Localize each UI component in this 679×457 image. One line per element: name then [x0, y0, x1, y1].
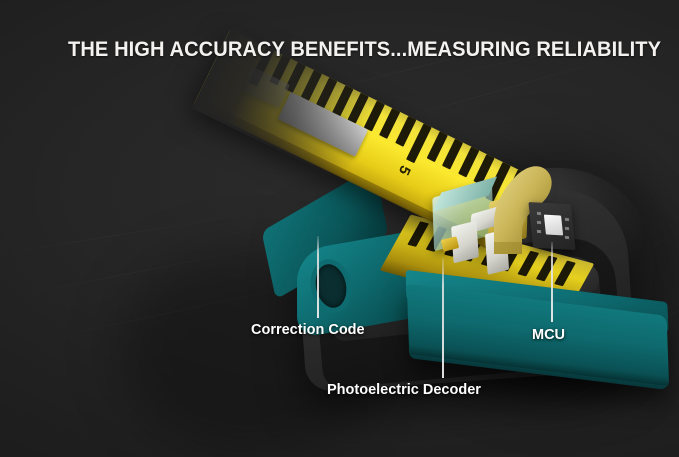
- mcu-pad: [537, 230, 541, 233]
- mcu-pad: [565, 236, 569, 239]
- page-title: THE HIGH ACCURACY BENEFITS...MEASURING R…: [68, 38, 661, 62]
- callout-label-photoelectric-decoder: Photoelectric Decoder: [327, 382, 481, 398]
- mcu-pad: [537, 212, 541, 215]
- tape-tick: [442, 139, 463, 170]
- screenshot-canvas: 5 THE HIGH ACCURACY BENEFITS...MEASURIN: [0, 0, 679, 457]
- callout-leader-line-correction-code: [317, 236, 319, 318]
- callout-label-correction-code: Correction Code: [251, 322, 365, 338]
- mcu-pad: [565, 227, 569, 230]
- tape-tick-inner: [554, 261, 576, 287]
- mcu-chip: [544, 215, 563, 236]
- mcu-pad: [537, 221, 541, 224]
- callout-leader-line-mcu: [551, 242, 553, 322]
- tape-tick: [395, 116, 416, 147]
- callout-leader-line-photoelectric-decoder: [442, 258, 444, 378]
- callout-label-mcu: MCU: [532, 327, 565, 343]
- tape-tick: [458, 146, 479, 177]
- mcu-pad: [565, 218, 569, 221]
- tape-tick: [426, 131, 447, 162]
- tape-tick: [379, 108, 400, 139]
